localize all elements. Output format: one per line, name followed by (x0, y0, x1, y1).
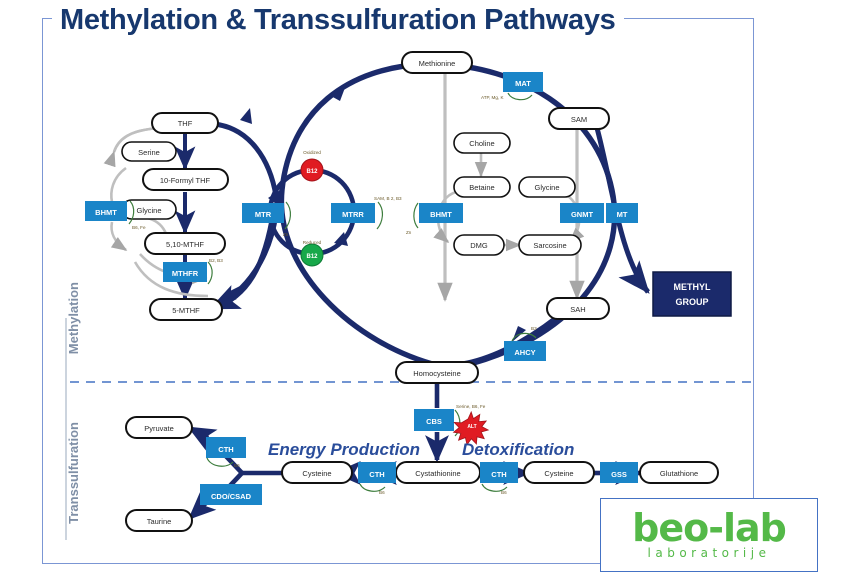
cofactor-hook (414, 203, 418, 228)
node-10-formyl-thf[interactable]: 10-Formyl THF (143, 169, 228, 190)
node-label: Betaine (469, 183, 494, 192)
node-sah[interactable]: SAH (547, 298, 609, 319)
node-taurine[interactable]: Taurine (126, 510, 192, 531)
enzyme-label: GSS (611, 470, 627, 479)
node-sam[interactable]: SAM (549, 108, 609, 129)
node-label: 5-MTHF (172, 306, 200, 315)
enzyme-label: AHCY (514, 348, 535, 357)
node-cysteine-left[interactable]: Cysteine (282, 462, 352, 483)
node-label: Cysteine (544, 469, 573, 478)
node-cysteine-right[interactable]: Cysteine (524, 462, 594, 483)
node-5-mthf[interactable]: 5-MTHF (150, 299, 222, 320)
node-thf[interactable]: THF (152, 113, 218, 133)
enzyme-label: GNMT (571, 210, 593, 219)
cdo-to-taurine-arrow (190, 503, 206, 518)
enzyme-label: BHMT (430, 210, 452, 219)
node-choline[interactable]: Choline (454, 133, 510, 153)
cofactor-label: B3 (531, 326, 537, 331)
enzyme-gnmt[interactable]: GNMT (560, 203, 604, 223)
node-label: Taurine (147, 517, 172, 526)
logo-wordmark: beo-lab (632, 510, 786, 546)
cofactor-hook (208, 262, 212, 284)
cofactor-label: B6 (379, 490, 385, 495)
b12-reduced-text: B12 (306, 254, 318, 260)
logo-tagline: laboratorije (648, 546, 771, 560)
methyl-group-badge[interactable]: METHYL GROUP (653, 272, 731, 316)
beo-lab-logo: beo-lab laboratorije (600, 498, 818, 572)
node-label: 10-Formyl THF (160, 176, 211, 185)
energy-production-label: Energy Production (268, 440, 420, 459)
enzyme-cth-pyruvate[interactable]: CTH B6 (206, 437, 246, 468)
enzyme-label: MTHFR (172, 269, 199, 278)
enzyme-cdo-csad[interactable]: CDO/CSAD (200, 484, 262, 505)
enzyme-label: CTH (491, 470, 506, 479)
enzyme-label: CBS (426, 417, 442, 426)
enzyme-cbs[interactable]: CBS Serine, B6, Fe ALT (414, 404, 488, 445)
node-label: Sarcosine (533, 241, 566, 250)
node-glycine-left[interactable]: Glycine (122, 200, 176, 219)
enzyme-label: MAT (515, 79, 531, 88)
enzyme-mthfr[interactable]: MTHFR B2, B3 (163, 258, 223, 284)
b12-reduced-label: Reduced (303, 240, 322, 245)
enzyme-label: MT (617, 210, 628, 219)
methyl-group-line2: GROUP (675, 297, 708, 307)
methyl-group-line1: METHYL (674, 282, 712, 292)
node-serine[interactable]: Serine (122, 142, 176, 161)
cofactor-hook (508, 93, 532, 100)
node-betaine[interactable]: Betaine (454, 177, 510, 197)
enzyme-label: BHMT (95, 208, 117, 217)
pathway-svg: B12 Oxidized B12 Reduced (0, 0, 842, 582)
node-label: SAH (570, 305, 585, 314)
thf-arrowhead (240, 108, 252, 124)
enzyme-label: MTR (255, 210, 272, 219)
enzyme-cth-cysteine[interactable]: CTH B6 (358, 462, 396, 495)
node-label: Serine (138, 148, 160, 157)
diagram-canvas: Methylation & Transsulfuration Pathways … (0, 0, 842, 582)
node-label: Glycine (534, 183, 559, 192)
b12-oxidized-text: B12 (306, 169, 318, 175)
node-label: Choline (469, 139, 494, 148)
node-label: THF (178, 119, 193, 128)
enzyme-cth-detox[interactable]: CTH B6 (480, 462, 518, 495)
node-label: 5,10-MTHF (166, 240, 204, 249)
node-sarcosine[interactable]: Sarcosine (519, 235, 581, 255)
cofactor-label: Zn (283, 232, 289, 237)
serine-to-shmt-gray (111, 168, 126, 202)
enzyme-label: CTH (218, 445, 233, 454)
node-label: Methionine (419, 59, 456, 68)
cofactor-label: Serine, B6, Fe (456, 404, 486, 409)
enzyme-mtr[interactable]: MTR Zn (242, 202, 290, 237)
node-label: Cysteine (302, 469, 331, 478)
node-cystathionine[interactable]: Cystathionine (396, 462, 480, 483)
shmt-to-glycine-gray (112, 222, 126, 250)
enzyme-label: MTRR (342, 210, 364, 219)
cofactor-label: SAM, B 2, B3 (374, 196, 402, 201)
alert-badge-text: ALT (467, 424, 476, 430)
enzyme-mtrr[interactable]: MTRR SAM, B 2, B3 (331, 196, 402, 229)
cofactor-label: Zn (406, 230, 412, 235)
node-label: Homocysteine (413, 369, 461, 378)
node-label: Pyruvate (144, 424, 174, 433)
node-label: Glutathione (660, 469, 698, 478)
node-glutathione[interactable]: Glutathione (640, 462, 718, 483)
enzyme-mt[interactable]: MT (606, 203, 638, 223)
node-label: Glycine (136, 206, 161, 215)
node-homocysteine[interactable]: Homocysteine (396, 362, 478, 383)
cofactor-label: B2, B3 (209, 258, 223, 263)
enzyme-gss[interactable]: GSS (600, 462, 638, 483)
enzyme-mat[interactable]: MAT ATP, Mg, K (481, 72, 543, 100)
enzyme-label: CTH (369, 470, 384, 479)
node-label: DMG (470, 241, 488, 250)
node-dmg[interactable]: DMG (454, 235, 504, 255)
node-label: SAM (571, 115, 587, 124)
enzyme-label: CDO/CSAD (211, 492, 252, 501)
enzyme-bhmt-right[interactable]: BHMT Zn (406, 203, 463, 235)
node-5-10-mthf[interactable]: 5,10-MTHF (145, 233, 225, 254)
detoxification-label: Detoxification (462, 440, 574, 459)
cofactor-hook (377, 202, 382, 229)
cofactor-label: B6, Fe (132, 225, 146, 230)
node-pyruvate[interactable]: Pyruvate (126, 417, 192, 438)
node-methionine[interactable]: Methionine (402, 52, 472, 73)
node-glycine-right[interactable]: Glycine (519, 177, 575, 197)
cofactor-label: B6 (234, 463, 240, 468)
cofactor-label: ATP, Mg, K (481, 95, 504, 100)
node-label: Cystathionine (415, 469, 460, 478)
5mthf-to-mtr-arrow (214, 220, 272, 308)
cofactor-label: B6 (501, 490, 507, 495)
b12-oxidized-label: Oxidized (303, 150, 321, 155)
